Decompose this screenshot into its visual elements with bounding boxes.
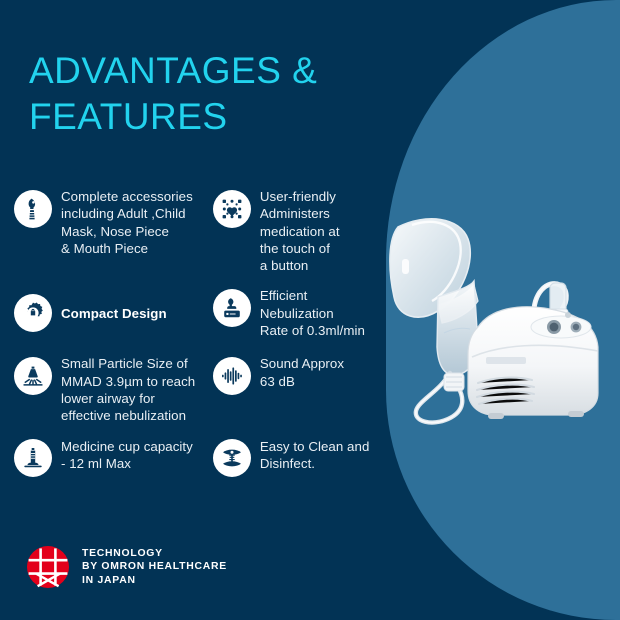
feature-row: Small Particle Size of MMAD 3.9µm to rea… [0,355,390,424]
feature-text: Efficient Nebulization Rate of 0.3ml/min [260,287,365,339]
nebulizer-mask-icon [14,190,52,228]
feature-text: Compact Design [61,305,167,322]
feature-row: Complete accessories including Adult ,Ch… [0,188,390,274]
features-list: Complete accessories including Adult ,Ch… [0,188,390,477]
feature-item-particle-size: Small Particle Size of MMAD 3.9µm to rea… [0,355,207,424]
feature-item-nebulization-rate: Efficient Nebulization Rate of 0.3ml/min [207,287,390,339]
nebulizer-compressor-illustration [382,205,610,435]
particle-spray-icon [14,357,52,395]
advantages-features-poster: ADVANTAGES & FEATURES [0,0,620,620]
feature-item-sound-level: Sound Approx 63 dB [207,355,390,424]
feature-row: Medicine cup capacity - 12 ml Max [0,438,390,477]
clean-disinfect-icon [213,439,251,477]
page-title-line-1: ADVANTAGES & [29,48,359,94]
technology-badge-text: TECHNOLOGY BY OMRON HEALTHCARE IN JAPAN [82,547,227,587]
medicine-cup-icon [14,439,52,477]
feature-text: Small Particle Size of MMAD 3.9µm to rea… [61,355,195,424]
feature-text: User-friendly Administers medication at … [260,188,340,274]
feature-text: Medicine cup capacity - 12 ml Max [61,438,193,473]
japan-technology-globe-logo [26,545,70,589]
feature-item-easy-clean: Easy to Clean and Disinfect. [207,438,390,477]
feature-item-user-friendly: User-friendly Administers medication at … [207,188,390,274]
feature-item-compact-design: Compact Design [0,287,207,339]
sound-wave-icon [213,357,251,395]
feature-item-accessories: Complete accessories including Adult ,Ch… [0,188,207,274]
feature-item-cup-capacity: Medicine cup capacity - 12 ml Max [0,438,207,477]
feature-text: Sound Approx 63 dB [260,355,344,390]
compressor-unit-icon [213,289,251,327]
feature-text: Easy to Clean and Disinfect. [260,438,370,473]
feature-text: Complete accessories including Adult ,Ch… [61,188,193,257]
touch-heart-icon [213,190,251,228]
feature-row: Compact Design Efficient Nebulization Ra… [0,287,390,339]
page-title: ADVANTAGES & FEATURES [29,48,359,140]
technology-badge: TECHNOLOGY BY OMRON HEALTHCARE IN JAPAN [26,545,227,589]
product-image [382,205,610,435]
technology-line-2: BY OMRON HEALTHCARE [82,560,227,573]
technology-line-1: TECHNOLOGY [82,547,227,560]
gear-compact-icon [14,294,52,332]
technology-line-3: IN JAPAN [82,574,227,587]
page-title-line-2: FEATURES [29,94,359,140]
